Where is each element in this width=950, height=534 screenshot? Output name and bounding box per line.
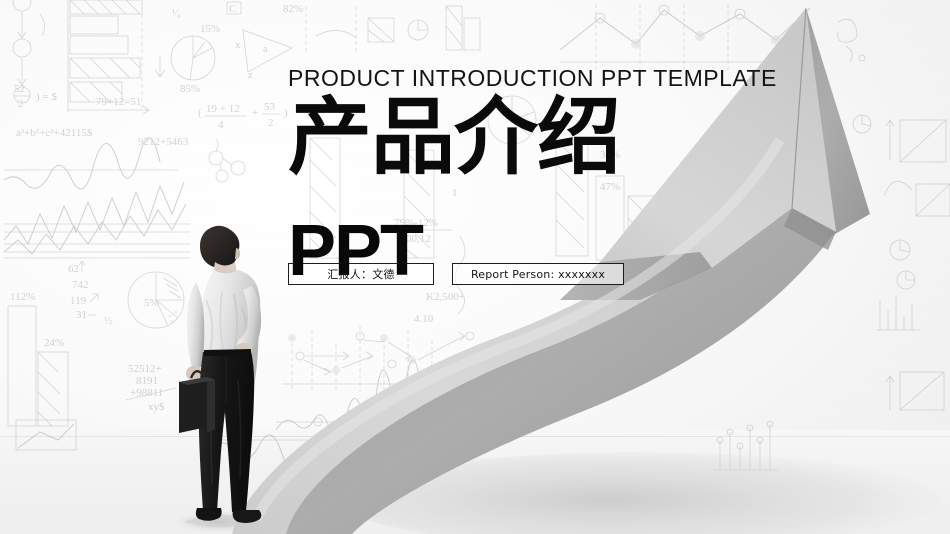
page-title: 产品介绍 — [288, 97, 808, 178]
businessman-figure — [176, 222, 280, 534]
meta-row: 汇报人：文德 Report Person: xxxxxxx — [288, 263, 624, 285]
presenter-box[interactable]: 汇报人：文德 — [288, 263, 434, 285]
figure-briefcase — [179, 371, 215, 433]
presentation-slide: ¹⁄₆ 15% 85% a x z 82% C ( — [0, 0, 950, 534]
report-person-label: Report Person: xxxxxxx — [471, 268, 605, 281]
presenter-label: 汇报人：文德 — [327, 266, 394, 282]
report-person-box[interactable]: Report Person: xxxxxxx — [452, 263, 624, 285]
figure-belt — [204, 349, 251, 356]
figure-left-arm — [187, 282, 205, 369]
figure-hair — [200, 226, 239, 268]
title-block: PRODUCT INTRODUCTION PPT TEMPLATE 产品介绍 — [288, 66, 808, 179]
